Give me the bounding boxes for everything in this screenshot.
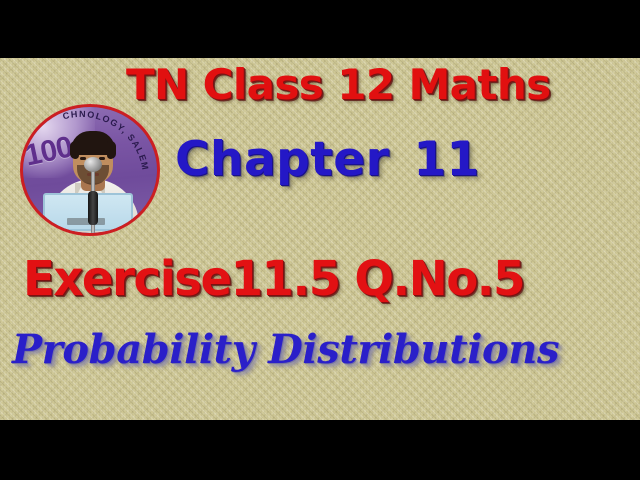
- headline-subject-topic: Probability Distributions: [12, 330, 559, 370]
- headline-exercise-question: Exercise11.5 Q.No.5: [23, 255, 524, 303]
- microphone-head-icon: [84, 157, 102, 172]
- laptop-brand-label: [67, 218, 105, 225]
- headline-chapter-number: 11: [413, 132, 479, 187]
- letterbox-bar-bottom: [0, 420, 640, 480]
- video-thumbnail: CHNOLOGY, SALEM 100 TN Class 12 Maths: [0, 0, 640, 480]
- presenter-hair-left: [70, 141, 79, 159]
- microphone-grip-icon: [88, 191, 98, 225]
- presenter-hair-right: [107, 141, 116, 159]
- channel-logo-photo: CHNOLOGY, SALEM 100: [23, 107, 157, 233]
- headline-chapter-word: Chapter: [175, 132, 389, 187]
- headline-chapter: Chapter11: [175, 136, 480, 183]
- channel-logo-badge: CHNOLOGY, SALEM 100: [20, 104, 160, 236]
- letterbox-bar-top: [0, 0, 640, 58]
- headline-course-title: TN Class 12 Maths: [126, 64, 551, 106]
